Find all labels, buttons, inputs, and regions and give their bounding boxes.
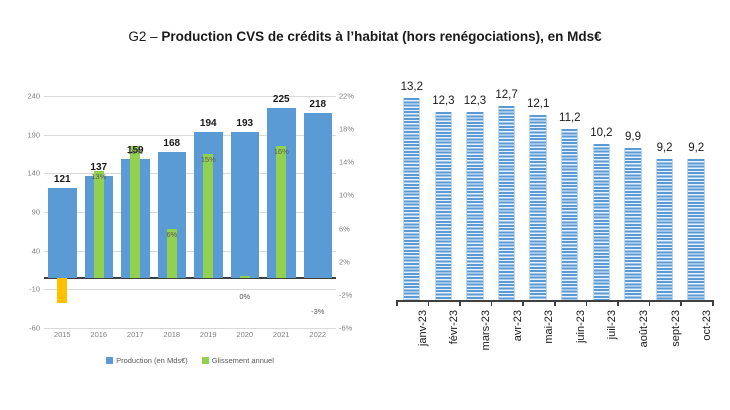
bar-value-label: 193: [227, 118, 264, 129]
x-axis-tick-label: 2020: [227, 330, 264, 339]
left-chart-x-axis: 20152016201720182019202020212022: [44, 328, 336, 344]
x-axis-tick-label: juin-23: [575, 310, 587, 343]
bar: [593, 144, 610, 300]
bar: [561, 129, 578, 301]
bar: [403, 98, 420, 300]
x-axis-tick-label: 2022: [300, 330, 337, 339]
bar: [466, 112, 483, 300]
y-axis-right-tick-label: 22%: [339, 92, 369, 101]
page-title-main: Production CVS de crédits à l’habitat (h…: [161, 29, 601, 44]
legend-swatch-production: [106, 357, 113, 364]
bar-percent-label: 6%: [154, 230, 191, 239]
page-title: G2 – Production CVS de crédits à l’habit…: [0, 28, 730, 46]
gridline: [44, 289, 336, 290]
x-axis-tick-label: 2016: [81, 330, 118, 339]
bar-production: [48, 188, 77, 278]
bar-percent-label: 15%: [190, 155, 227, 164]
y-axis-left-tick-label: 90: [10, 208, 40, 217]
chart-page: G2 – Production CVS de crédits à l’habit…: [0, 0, 730, 410]
bar-group: [586, 78, 618, 300]
y-axis-left-tick-label: 140: [10, 169, 40, 178]
bar-group: [680, 78, 712, 300]
bar-group: [263, 96, 300, 278]
bar-glissement: [276, 146, 286, 279]
bar-group: [44, 96, 81, 278]
x-axis-tick: [586, 300, 588, 306]
legend-label-production: Production (en Mds€): [116, 356, 188, 365]
bar-glissement: [240, 276, 250, 278]
page-title-prefix: G2 –: [128, 29, 161, 44]
x-axis-tick-label: 2021: [263, 330, 300, 339]
x-axis-tick: [396, 300, 398, 306]
left-chart-plot-area: 12113713%15916%1686%19415%1930%22516%218…: [44, 96, 336, 328]
y-axis-right-tick-label: 2%: [339, 257, 369, 266]
x-axis-tick-label: juil-23: [606, 310, 618, 339]
bar-group: [617, 78, 649, 300]
y-axis-left-tick-label: 240: [10, 92, 40, 101]
x-axis-tick: [680, 300, 682, 306]
bar-group: [649, 78, 681, 300]
x-axis-tick: [522, 300, 524, 306]
bar-group: [154, 96, 191, 278]
x-axis-tick-label: févr-23: [448, 310, 460, 344]
bar-group: [491, 78, 523, 300]
bar-glissement: [94, 171, 104, 279]
bar-production: [304, 113, 333, 278]
bar-group: [396, 78, 428, 300]
bar-glissement: [130, 146, 140, 279]
bar: [435, 112, 452, 300]
x-axis-tick-label: 2015: [44, 330, 81, 339]
y-axis-right-tick-label: -6%: [339, 324, 369, 333]
y-axis-left-tick-label: 40: [10, 246, 40, 255]
y-axis-right-tick-label: 18%: [339, 125, 369, 134]
bar-value-label: 121: [44, 174, 81, 185]
bar-value-label: 168: [154, 138, 191, 149]
y-axis-left-tick-label: -60: [10, 324, 40, 333]
x-axis-tick: [617, 300, 619, 306]
bar-value-label: 12,1: [518, 98, 558, 110]
left-chart-legend: Production (en Mds€) Glissement annuel: [44, 356, 336, 365]
bar-value-label: 194: [190, 118, 227, 129]
bar-value-label: 13,2: [392, 81, 432, 93]
y-axis-right-tick-label: 6%: [339, 224, 369, 233]
x-axis-tick-label: janv-23: [417, 310, 429, 346]
left-chart: 2401901409040-10-60 22%18%14%10%6%2%-2%-…: [8, 88, 358, 368]
right-chart: 13,212,312,312,712,111,210,29,99,29,2 ja…: [378, 60, 723, 400]
bar-value-label: 218: [300, 99, 337, 110]
bar-value-label: 9,2: [676, 142, 716, 154]
legend-item-glissement: Glissement annuel: [202, 356, 274, 365]
x-axis-tick-label: mai-23: [543, 310, 555, 344]
y-axis-left-tick-label: -10: [10, 285, 40, 294]
bar-group: [428, 78, 460, 300]
bar-percent-label: 13%: [81, 172, 118, 181]
bar-glissement-negative: [57, 278, 67, 303]
right-chart-x-axis: [396, 300, 712, 302]
x-axis-tick: [554, 300, 556, 306]
y-axis-left-tick-label: 190: [10, 130, 40, 139]
y-axis-right-tick-label: 14%: [339, 158, 369, 167]
bar-production: [231, 132, 260, 278]
bar-group: [459, 78, 491, 300]
x-axis-tick-label: 2018: [154, 330, 191, 339]
bar-group: [117, 96, 154, 278]
x-axis-tick-label: sept-23: [670, 310, 682, 347]
x-axis-tick-label: 2019: [190, 330, 227, 339]
bar-glissement-negative-wrap: [44, 278, 81, 303]
x-axis-tick: [459, 300, 461, 306]
bar-group: [300, 96, 337, 278]
bar-percent-label: 0%: [227, 292, 264, 301]
bar: [498, 106, 515, 300]
y-axis-right-tick-label: 10%: [339, 191, 369, 200]
x-axis-tick-label: oct-23: [701, 310, 713, 341]
bar-value-label: 11,2: [550, 112, 590, 124]
left-chart-y-axis-right: 22%18%14%10%6%2%-2%-6%: [339, 96, 371, 328]
bar-percent-label: 16%: [117, 147, 154, 156]
x-axis-tick: [428, 300, 430, 306]
bar: [656, 159, 673, 300]
x-axis-tick-label: avr-23: [512, 310, 524, 341]
bar-percent-label: -3%: [300, 307, 337, 316]
bar-percent-label: 16%: [263, 147, 300, 156]
bar-glissement: [203, 154, 213, 278]
x-axis-tick-label: 2017: [117, 330, 154, 339]
bar-value-label: 225: [263, 94, 300, 105]
legend-swatch-glissement: [202, 357, 209, 364]
legend-item-production: Production (en Mds€): [106, 356, 188, 365]
y-axis-right-tick-label: -2%: [339, 290, 369, 299]
bar: [529, 115, 546, 300]
x-axis-tick-label: août-23: [638, 310, 650, 347]
bar: [624, 148, 641, 300]
left-chart-y-axis-left: 2401901409040-10-60: [8, 96, 40, 328]
bar: [687, 159, 704, 300]
right-chart-plot-area: 13,212,312,312,712,111,210,29,99,29,2: [396, 78, 712, 300]
legend-label-glissement: Glissement annuel: [212, 356, 274, 365]
bar-group: [81, 96, 118, 278]
x-axis-tick: [491, 300, 493, 306]
x-axis-tick: [649, 300, 651, 306]
x-axis-tick-label: mars-23: [480, 310, 492, 350]
x-axis-tick: [712, 300, 714, 306]
